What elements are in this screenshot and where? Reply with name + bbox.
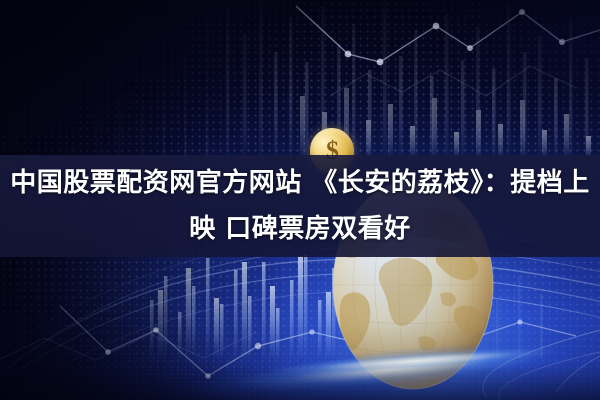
headline-line-1: 中国股票配资网官方网站 《长安的荔枝》：提档上 xyxy=(10,161,590,205)
promo-banner: $ xyxy=(0,0,600,400)
headline-band: 中国股票配资网官方网站 《长安的荔枝》：提档上 映 口碑票房双看好 xyxy=(0,155,600,257)
headline-line-2: 映 口碑票房双看好 xyxy=(189,207,411,251)
